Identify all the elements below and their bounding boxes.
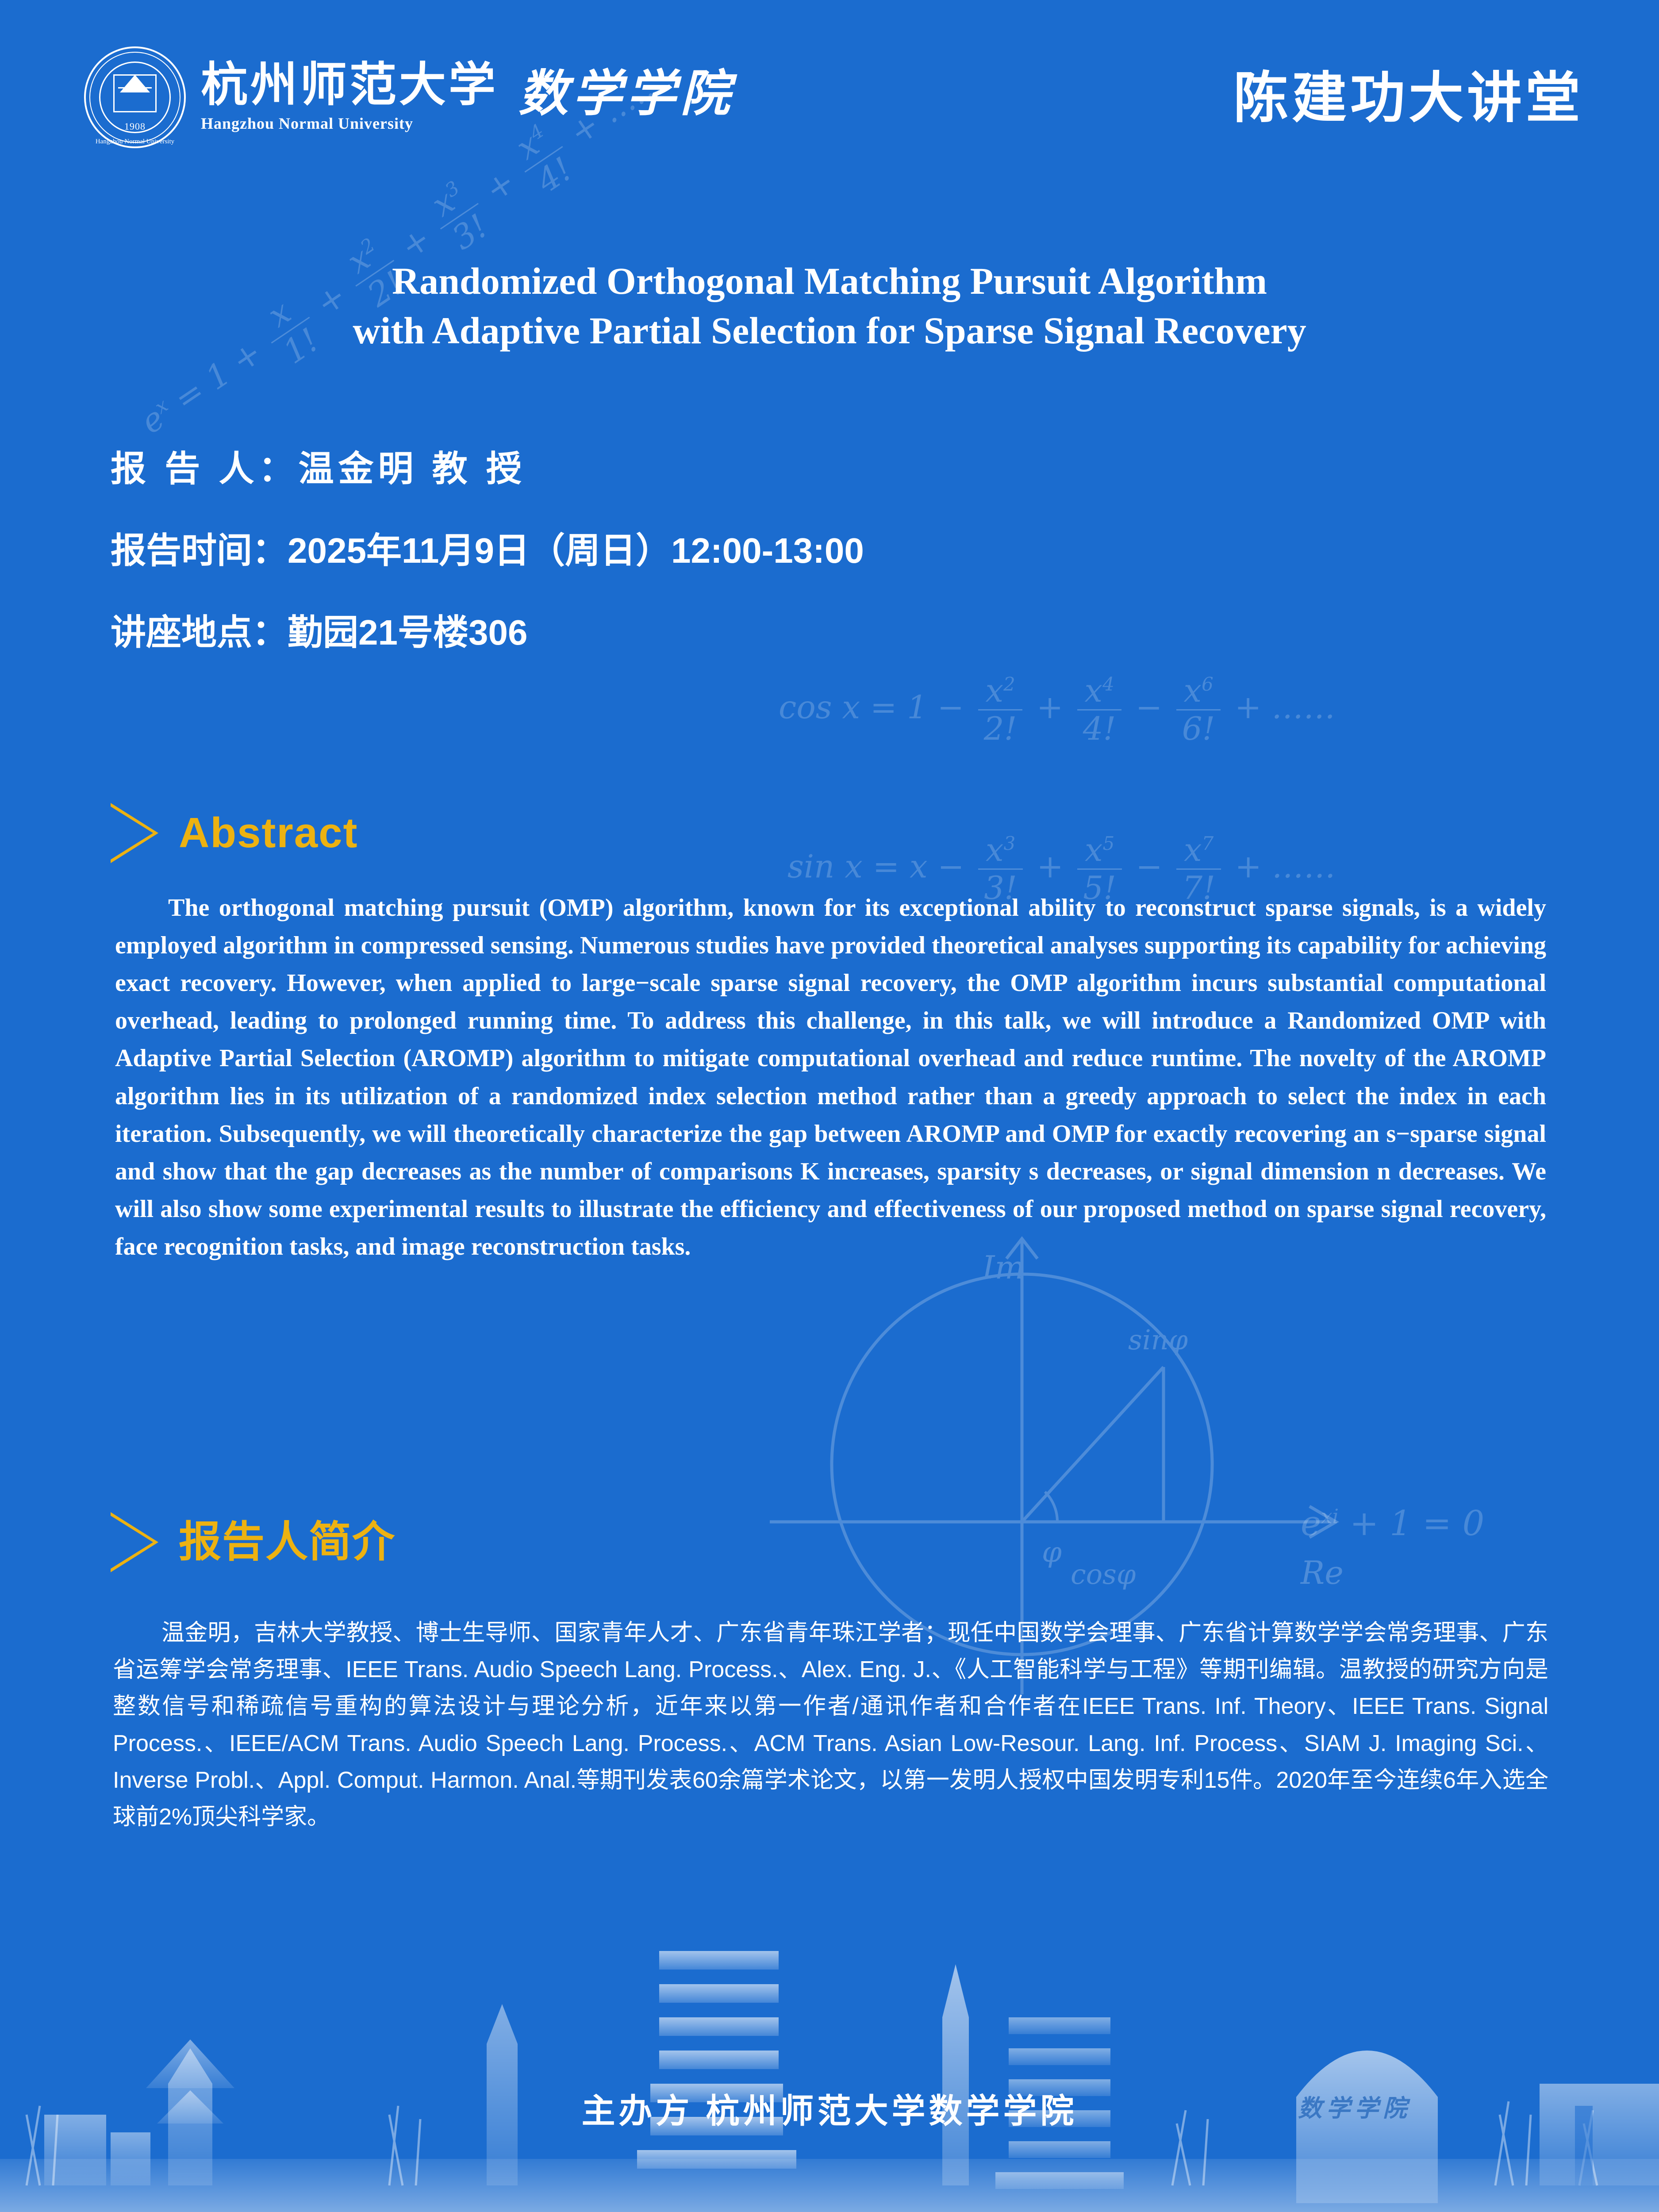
footer-organizer: 主办方 杭州师范大学数学学院: [0, 2084, 1659, 2132]
talk-title: Randomized Orthogonal Matching Pursuit A…: [0, 257, 1659, 356]
abstract-heading-label: Abstract: [179, 812, 358, 854]
svg-text:cosφ: cosφ: [1071, 1558, 1136, 1590]
university-seal-icon: 1908 Hangzhou Normal University: [84, 46, 186, 148]
bio-section-heading: 报告人简介: [111, 1512, 396, 1572]
seal-arc-text: Hangzhou Normal University: [84, 138, 186, 146]
formula-euler-identity: exi + 1 = 0: [1301, 1504, 1484, 1544]
forum-title: 陈建功大讲堂: [1233, 53, 1584, 133]
svg-text:φ: φ: [1042, 1536, 1062, 1569]
meta-venue: 讲座地点：勤园21号楼306: [111, 615, 1571, 650]
brand-lockup: 1908 Hangzhou Normal University 杭州师范大学 H…: [84, 46, 734, 148]
talk-meta: 报 告 人：温金明 教 授 报告时间：2025年11月9日（周日）12:00-1…: [111, 451, 1571, 697]
poster-header: 1908 Hangzhou Normal University 杭州师范大学 H…: [0, 0, 1659, 195]
abstract-section-heading: Abstract: [111, 803, 358, 863]
talk-title-line2: with Adaptive Partial Selection for Spar…: [80, 306, 1579, 356]
triangle-bullet-icon: [111, 1512, 158, 1572]
university-name-cn: 杭州师范大学: [201, 62, 498, 109]
svg-text:sinφ: sinφ: [1128, 1324, 1188, 1356]
seal-year: 1908: [124, 121, 146, 132]
footer-skyline: 数学学院: [0, 1938, 1659, 2212]
school-name-cn: 数学学院: [518, 54, 734, 125]
university-name-block: 杭州师范大学 Hangzhou Normal University: [201, 62, 498, 133]
abstract-body: The orthogonal matching pursuit (OMP) al…: [115, 889, 1546, 1266]
triangle-bullet-icon: [111, 803, 158, 863]
bio-body: 温金明，吉林大学教授、博士生导师、国家青年人才、广东省青年珠江学者；现任中国数学…: [113, 1615, 1548, 1836]
svg-text:Re: Re: [1300, 1554, 1344, 1591]
bio-heading-label: 报告人简介: [179, 1521, 396, 1563]
talk-title-line1: Randomized Orthogonal Matching Pursuit A…: [80, 257, 1579, 306]
university-name-en: Hangzhou Normal University: [201, 114, 498, 133]
meta-time: 报告时间：2025年11月9日（周日）12:00-13:00: [111, 533, 1571, 568]
meta-speaker: 报 告 人：温金明 教 授: [111, 451, 1571, 487]
skyline-illustration: [0, 1938, 1659, 2212]
